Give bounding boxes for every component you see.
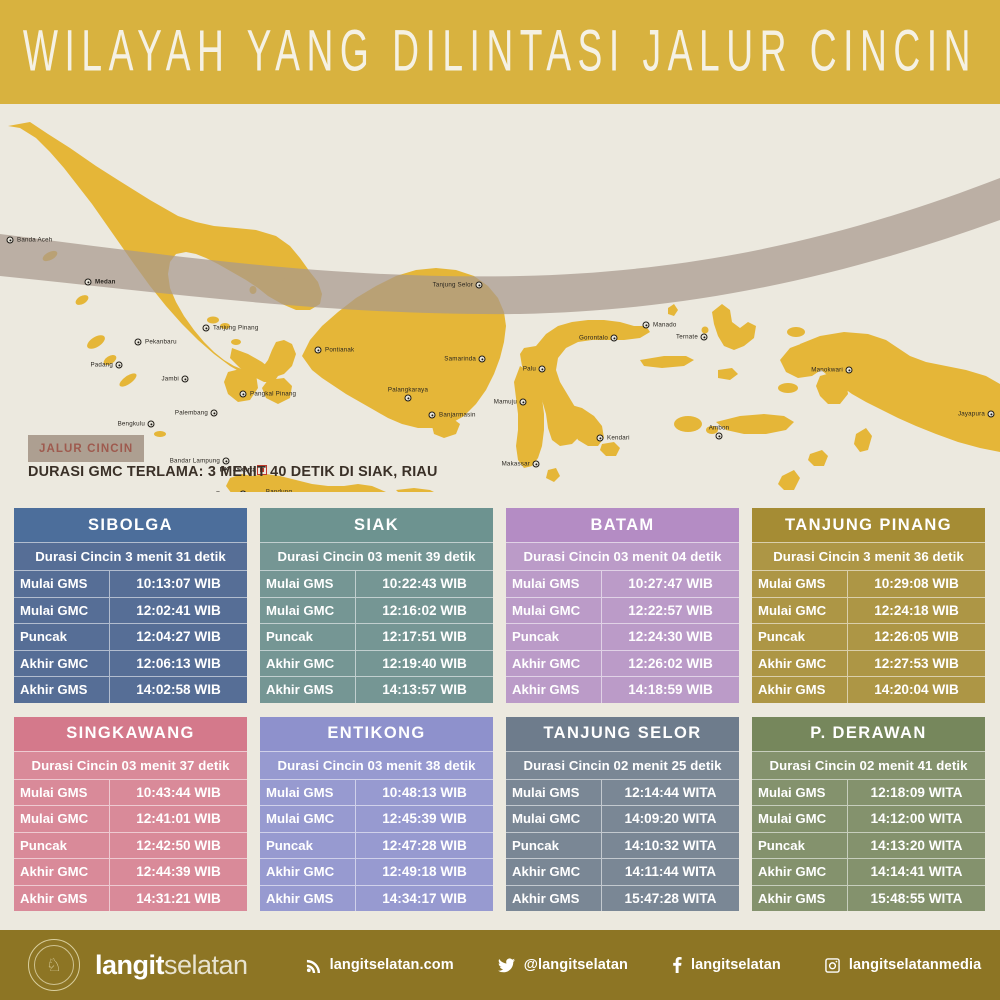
map-marker-city[interactable] — [315, 347, 322, 354]
city-timing-grid: SIBOLGADurasi Cincin 3 menit 31 detikMul… — [14, 508, 986, 911]
twitter-icon — [498, 958, 515, 973]
card-row-label: Puncak — [260, 833, 356, 859]
card-duration: Durasi Cincin 03 menit 39 detik — [260, 542, 493, 570]
card-row-value: 14:12:00 WITA — [848, 811, 985, 826]
card-row-value: 12:27:53 WIB — [848, 656, 985, 671]
card-row-value: 12:45:39 WIB — [356, 811, 493, 826]
card-row-label: Mulai GMC — [752, 598, 848, 624]
city-timing-card: ENTIKONGDurasi Cincin 03 menit 38 detikM… — [260, 717, 493, 912]
card-row: Akhir GMS14:02:58 WIB — [14, 676, 247, 703]
map-marker-city[interactable] — [135, 339, 142, 346]
card-row: Akhir GMC12:49:18 WIB — [260, 858, 493, 885]
map-city-label: Manokwari — [811, 367, 843, 374]
island-waigeo — [787, 327, 805, 337]
card-row-value: 12:42:50 WIB — [110, 838, 247, 853]
map-city-label: Ambon — [709, 425, 730, 432]
card-row-label: Akhir GMS — [752, 677, 848, 703]
card-row-value: 12:26:05 WIB — [848, 629, 985, 644]
social-link-label: @langitselatan — [524, 957, 628, 973]
card-row: Mulai GMC12:41:01 WIB — [14, 805, 247, 832]
city-timing-card: SINGKAWANGDurasi Cincin 03 menit 37 deti… — [14, 717, 247, 912]
card-row: Akhir GMC12:06:13 WIB — [14, 650, 247, 677]
map-city-label: Palangkaraya — [388, 387, 428, 394]
map-marker-city[interactable] — [611, 335, 618, 342]
card-row-label: Akhir GMC — [752, 651, 848, 677]
island-yapen — [850, 358, 874, 366]
card-row-label: Mulai GMS — [506, 571, 602, 597]
map-city-label: Banjarmasin — [439, 412, 476, 419]
map-marker-city[interactable] — [846, 367, 853, 374]
card-row-label: Mulai GMC — [260, 598, 356, 624]
card-row: Mulai GMS10:27:47 WIB — [506, 570, 739, 597]
card-row: Puncak12:47:28 WIB — [260, 832, 493, 859]
social-link-label: langitselatanmedia — [849, 957, 981, 973]
social-link[interactable]: langitselatan.com — [306, 957, 454, 973]
brand-light-part: selatan — [164, 950, 248, 980]
social-links: langitselatan.com@langitselatanlangitsel… — [306, 957, 1000, 973]
map-city-label: Bengkulu — [118, 421, 145, 428]
map-city-label: Banda Aceh — [17, 237, 52, 244]
title-bar: WILAYAH YANG DILINTASI JALUR CINCIN — [0, 0, 1000, 104]
card-row: Akhir GMC12:19:40 WIB — [260, 650, 493, 677]
map-marker-city[interactable] — [429, 412, 436, 419]
card-duration: Durasi Cincin 3 menit 36 detik — [752, 542, 985, 570]
map-marker-city[interactable] — [182, 376, 189, 383]
card-title: P. DERAWAN — [752, 717, 985, 751]
map-marker-city[interactable] — [203, 325, 210, 332]
card-row: Akhir GMS14:31:21 WIB — [14, 885, 247, 912]
card-row-label: Puncak — [14, 833, 110, 859]
card-row: Akhir GMS14:34:17 WIB — [260, 885, 493, 912]
map-city-label: Pekanbaru — [145, 339, 177, 346]
card-row-value: 10:13:07 WIB — [110, 576, 247, 591]
card-row-label: Puncak — [14, 624, 110, 650]
card-row: Puncak12:24:30 WIB — [506, 623, 739, 650]
card-row: Mulai GMC12:24:18 WIB — [752, 597, 985, 624]
map-city-label: Kendari — [607, 435, 630, 442]
card-row: Mulai GMS12:18:09 WITA — [752, 779, 985, 806]
card-row-value: 12:49:18 WIB — [356, 864, 493, 879]
city-timing-card: TANJUNG SELORDurasi Cincin 02 menit 25 d… — [506, 717, 739, 912]
card-row-label: Puncak — [506, 833, 602, 859]
card-row-value: 14:02:58 WIB — [110, 682, 247, 697]
card-row-label: Akhir GMS — [506, 677, 602, 703]
card-duration: Durasi Cincin 03 menit 38 detik — [260, 751, 493, 779]
duration-note: DURASI GMC TERLAMA: 3 MENIT 40 DETIK DI … — [28, 463, 438, 480]
card-row-label: Mulai GMS — [752, 571, 848, 597]
card-row-value: 12:19:40 WIB — [356, 656, 493, 671]
map-city-label: Mamuju — [494, 399, 517, 406]
card-row-value: 14:09:20 WITA — [602, 811, 739, 826]
page-title: WILAYAH YANG DILINTASI JALUR CINCIN — [23, 19, 977, 84]
card-row-label: Akhir GMS — [260, 677, 356, 703]
card-row: Mulai GMS10:29:08 WIB — [752, 570, 985, 597]
card-row-value: 15:47:28 WITA — [602, 891, 739, 906]
card-row: Mulai GMC12:02:41 WIB — [14, 597, 247, 624]
island-enggano — [154, 431, 166, 437]
card-duration: Durasi Cincin 3 menit 31 detik — [14, 542, 247, 570]
map-city-label: Palu — [523, 366, 536, 373]
city-timing-card: SIBOLGADurasi Cincin 3 menit 31 detikMul… — [14, 508, 247, 703]
card-row-label: Akhir GMC — [752, 859, 848, 885]
card-row-value: 14:18:59 WIB — [602, 682, 739, 697]
card-row: Akhir GMC12:27:53 WIB — [752, 650, 985, 677]
card-row-label: Akhir GMC — [506, 859, 602, 885]
card-row-label: Akhir GMS — [260, 886, 356, 912]
brand-wordmark: langitselatan — [95, 950, 248, 981]
map-marker-city[interactable] — [520, 399, 527, 406]
card-row-label: Mulai GMS — [260, 780, 356, 806]
legend-label: JALUR CINCIN — [39, 443, 133, 455]
map-city-label: Serang — [216, 491, 237, 493]
map-marker-city[interactable] — [716, 433, 723, 440]
card-row-value: 12:16:02 WIB — [356, 603, 493, 618]
card-row-label: Mulai GMS — [14, 780, 110, 806]
card-title: TANJUNG PINANG — [752, 508, 985, 542]
seal-rider-glyph: ♘ — [46, 956, 62, 974]
card-row: Mulai GMS10:43:44 WIB — [14, 779, 247, 806]
social-link[interactable]: langitselatan — [672, 957, 781, 973]
map-city-label: Tanjung Selor — [433, 282, 473, 289]
card-row: Puncak12:26:05 WIB — [752, 623, 985, 650]
map-city-label: Pangkal Pinang — [250, 391, 296, 398]
map-city-label: Bandung — [266, 489, 292, 493]
card-row: Puncak14:13:20 WITA — [752, 832, 985, 859]
card-row-label: Akhir GMC — [14, 859, 110, 885]
footer-bar: ♘ langitselatan langitselatan.com@langit… — [0, 930, 1000, 1000]
island-misool — [778, 383, 798, 393]
card-row-label: Akhir GMS — [752, 886, 848, 912]
card-row: Akhir GMS14:18:59 WIB — [506, 676, 739, 703]
card-row: Mulai GMS10:22:43 WIB — [260, 570, 493, 597]
card-duration: Durasi Cincin 02 menit 41 detik — [752, 751, 985, 779]
card-row-value: 12:04:27 WIB — [110, 629, 247, 644]
card-row-label: Puncak — [506, 624, 602, 650]
brand-block: ♘ langitselatan — [28, 939, 248, 991]
card-duration: Durasi Cincin 02 menit 25 detik — [506, 751, 739, 779]
social-link[interactable]: langitselatanmedia — [825, 957, 981, 973]
langitselatan-seal-icon: ♘ — [28, 939, 80, 991]
map-city-label: Ternate — [676, 334, 698, 341]
island-lingga — [231, 339, 241, 345]
card-row: Puncak12:04:27 WIB — [14, 623, 247, 650]
card-row-label: Mulai GMS — [260, 571, 356, 597]
card-title: TANJUNG SELOR — [506, 717, 739, 751]
map-marker-city[interactable] — [701, 334, 708, 341]
card-row-label: Akhir GMC — [260, 859, 356, 885]
card-row: Mulai GMS10:48:13 WIB — [260, 779, 493, 806]
card-row-value: 14:34:17 WIB — [356, 891, 493, 906]
map-city-label: Pontianak — [325, 347, 354, 354]
map-marker-city[interactable] — [597, 435, 604, 442]
card-row-value: 12:26:02 WIB — [602, 656, 739, 671]
card-row: Puncak12:17:51 WIB — [260, 623, 493, 650]
map-marker-city[interactable] — [148, 421, 155, 428]
map-marker-city[interactable] — [116, 362, 123, 369]
card-row: Akhir GMC14:14:41 WITA — [752, 858, 985, 885]
card-row-value: 12:22:57 WIB — [602, 603, 739, 618]
map-marker-city[interactable] — [240, 391, 247, 398]
card-row-label: Mulai GMC — [752, 806, 848, 832]
card-row-value: 14:31:21 WIB — [110, 891, 247, 906]
card-row-label: Akhir GMS — [506, 886, 602, 912]
card-row-value: 10:48:13 WIB — [356, 785, 493, 800]
card-title: SINGKAWANG — [14, 717, 247, 751]
island-natuna2 — [270, 248, 278, 256]
card-title: SIAK — [260, 508, 493, 542]
card-row-value: 12:06:13 WIB — [110, 656, 247, 671]
indonesia-map: Banda AcehMedanPekanbaruPadangJambiBengk… — [0, 104, 1000, 492]
card-row: Mulai GMC12:45:39 WIB — [260, 805, 493, 832]
social-link-label: langitselatan — [691, 957, 781, 973]
card-row-label: Akhir GMS — [14, 886, 110, 912]
card-row-label: Puncak — [260, 624, 356, 650]
card-row-value: 12:24:30 WIB — [602, 629, 739, 644]
card-row: Akhir GMS14:20:04 WIB — [752, 676, 985, 703]
map-city-label: Padang — [90, 362, 113, 369]
card-title: ENTIKONG — [260, 717, 493, 751]
rss-icon — [306, 958, 321, 973]
card-row-value: 10:29:08 WIB — [848, 576, 985, 591]
card-row-label: Puncak — [752, 833, 848, 859]
map-marker-city[interactable] — [7, 237, 14, 244]
card-row: Akhir GMS15:47:28 WITA — [506, 885, 739, 912]
card-row-value: 12:17:51 WIB — [356, 629, 493, 644]
card-row: Akhir GMS15:48:55 WITA — [752, 885, 985, 912]
card-row-value: 14:10:32 WITA — [602, 838, 739, 853]
card-row: Akhir GMC12:26:02 WIB — [506, 650, 739, 677]
card-row-label: Mulai GMC — [260, 806, 356, 832]
card-row: Mulai GMC14:12:00 WITA — [752, 805, 985, 832]
city-timing-card: SIAKDurasi Cincin 03 menit 39 detikMulai… — [260, 508, 493, 703]
map-marker-city[interactable] — [476, 282, 483, 289]
card-row: Mulai GMS10:13:07 WIB — [14, 570, 247, 597]
city-timing-card: TANJUNG PINANGDurasi Cincin 3 menit 36 d… — [752, 508, 985, 703]
legend-jalur-cincin: JALUR CINCIN — [28, 435, 144, 462]
card-row-value: 10:27:47 WIB — [602, 576, 739, 591]
card-row-value: 15:48:55 WITA — [848, 891, 985, 906]
infographic-page: WILAYAH YANG DILINTASI JALUR CINCIN — [0, 0, 1000, 1000]
map-city-label: Samarinda — [444, 356, 476, 363]
card-row: Puncak12:42:50 WIB — [14, 832, 247, 859]
map-city-label: Medan — [95, 279, 116, 286]
island-batam — [207, 317, 219, 324]
map-marker-city[interactable] — [539, 366, 546, 373]
card-row: Akhir GMC14:11:44 WITA — [506, 858, 739, 885]
card-row-label: Mulai GMS — [752, 780, 848, 806]
city-timing-card: BATAMDurasi Cincin 03 menit 04 detikMula… — [506, 508, 739, 703]
map-marker-city[interactable] — [643, 322, 650, 329]
map-city-label: Gorontalo — [579, 335, 608, 342]
card-row: Akhir GMS14:13:57 WIB — [260, 676, 493, 703]
card-row-label: Mulai GMC — [506, 598, 602, 624]
card-row: Mulai GMC14:09:20 WITA — [506, 805, 739, 832]
card-row-value: 12:41:01 WIB — [110, 811, 247, 826]
card-title: SIBOLGA — [14, 508, 247, 542]
card-row-value: 14:13:57 WIB — [356, 682, 493, 697]
card-row-label: Mulai GMC — [506, 806, 602, 832]
map-marker-city[interactable] — [533, 461, 540, 468]
card-row-value: 10:43:44 WIB — [110, 785, 247, 800]
card-duration: Durasi Cincin 03 menit 37 detik — [14, 751, 247, 779]
card-row-value: 14:13:20 WITA — [848, 838, 985, 853]
map-city-label: Jayapura — [958, 411, 985, 418]
map-svg — [0, 104, 1000, 492]
city-timing-card: P. DERAWANDurasi Cincin 02 menit 41 deti… — [752, 717, 985, 912]
card-title: BATAM — [506, 508, 739, 542]
map-city-label: Makassar — [502, 461, 530, 468]
island-biak — [876, 350, 892, 358]
card-row: Mulai GMC12:16:02 WIB — [260, 597, 493, 624]
card-row-value: 14:14:41 WITA — [848, 864, 985, 879]
card-row: Puncak14:10:32 WITA — [506, 832, 739, 859]
card-row-label: Mulai GMC — [14, 806, 110, 832]
card-row-value: 12:47:28 WIB — [356, 838, 493, 853]
map-marker-city[interactable] — [479, 356, 486, 363]
island-ternate — [702, 327, 709, 334]
card-row: Akhir GMC12:44:39 WIB — [14, 858, 247, 885]
card-row: Mulai GMS12:14:44 WITA — [506, 779, 739, 806]
card-row-label: Akhir GMS — [14, 677, 110, 703]
instagram-icon — [825, 958, 840, 973]
map-marker-city[interactable] — [988, 411, 995, 418]
card-row-label: Mulai GMS — [14, 571, 110, 597]
card-row-label: Puncak — [752, 624, 848, 650]
island-buru — [674, 416, 702, 432]
social-link[interactable]: @langitselatan — [498, 957, 628, 973]
card-row-value: 14:20:04 WIB — [848, 682, 985, 697]
facebook-icon — [672, 957, 682, 973]
card-row-value: 12:14:44 WITA — [602, 785, 739, 800]
card-row-label: Mulai GMC — [14, 598, 110, 624]
brand-bold-part: langit — [95, 950, 164, 980]
card-row: Mulai GMC12:22:57 WIB — [506, 597, 739, 624]
map-marker-city[interactable] — [240, 491, 247, 493]
card-row-value: 12:24:18 WIB — [848, 603, 985, 618]
map-city-label: Tanjung Pinang — [213, 325, 258, 332]
card-row-label: Akhir GMC — [260, 651, 356, 677]
seal-inner-ring: ♘ — [34, 945, 74, 985]
map-city-label: Palembang — [175, 410, 208, 417]
map-marker-city[interactable] — [85, 279, 92, 286]
map-city-label: Jambi — [161, 376, 179, 383]
map-city-label: Manado — [653, 322, 677, 329]
card-row-label: Akhir GMC — [14, 651, 110, 677]
card-row-value: 12:18:09 WITA — [848, 785, 985, 800]
card-row-value: 12:44:39 WIB — [110, 864, 247, 879]
card-row-value: 12:02:41 WIB — [110, 603, 247, 618]
map-marker-city[interactable] — [211, 410, 218, 417]
card-row-label: Mulai GMS — [506, 780, 602, 806]
card-duration: Durasi Cincin 03 menit 04 detik — [506, 542, 739, 570]
card-row-value: 10:22:43 WIB — [356, 576, 493, 591]
card-row-value: 14:11:44 WITA — [602, 864, 739, 879]
card-row-label: Akhir GMC — [506, 651, 602, 677]
map-marker-city[interactable] — [405, 395, 412, 402]
social-link-label: langitselatan.com — [330, 957, 454, 973]
